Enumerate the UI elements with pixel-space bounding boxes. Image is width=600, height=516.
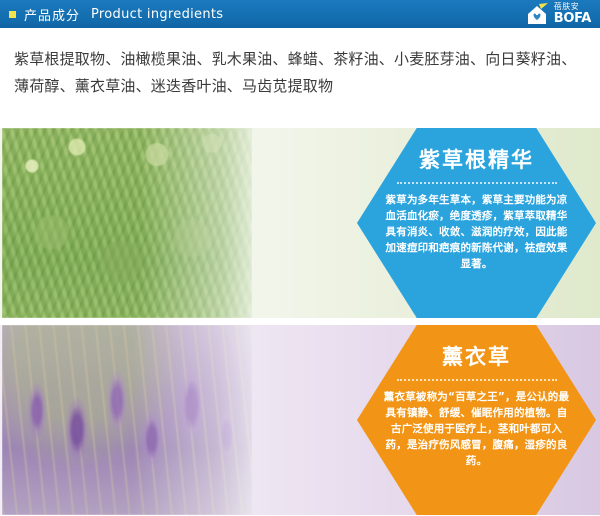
page-header-bar: 产品成分 Product ingredients 蓓肤安 BOFA — [0, 0, 600, 28]
gromwell-plant-photo — [2, 128, 252, 318]
info-card-title-lavender: 薰衣草 — [442, 347, 511, 368]
dotted-divider — [397, 379, 557, 381]
gromwell-photo-image — [2, 128, 252, 318]
dotted-divider — [397, 182, 557, 184]
info-card-title-gromwell: 紫草根精华 — [419, 150, 534, 171]
brand-logo-text: 蓓肤安 BOFA — [554, 3, 591, 25]
lavender-flower-photo — [2, 325, 252, 515]
brand-name-en: BOFA — [554, 12, 591, 25]
info-card-body-gromwell: 紫草为多年生草本，紫草主要功能为凉血活血化瘀，绝度透疹，紫草萃取精华具有消炎、收… — [384, 192, 570, 272]
brand-name-cn: 蓓肤安 — [554, 3, 580, 11]
info-card-body-lavender: 薰衣草被称为“百草之王”，是公认的最具有镇静、舒缓、催眠作用的植物。自古广泛使用… — [384, 389, 570, 469]
ingredients-paragraph: 紫草根提取物、油橄榄果油、乳木果油、蜂蜡、茶籽油、小麦胚芽油、向日葵籽油、薄荷醇… — [14, 46, 586, 100]
page-title-cn: 产品成分 — [24, 5, 80, 24]
square-bullet-icon — [9, 11, 16, 18]
page-title-en: Product ingredients — [91, 7, 223, 22]
house-logo-icon — [525, 2, 551, 26]
brand-logo[interactable]: 蓓肤安 BOFA — [482, 0, 600, 28]
lavender-photo-image — [2, 325, 252, 515]
